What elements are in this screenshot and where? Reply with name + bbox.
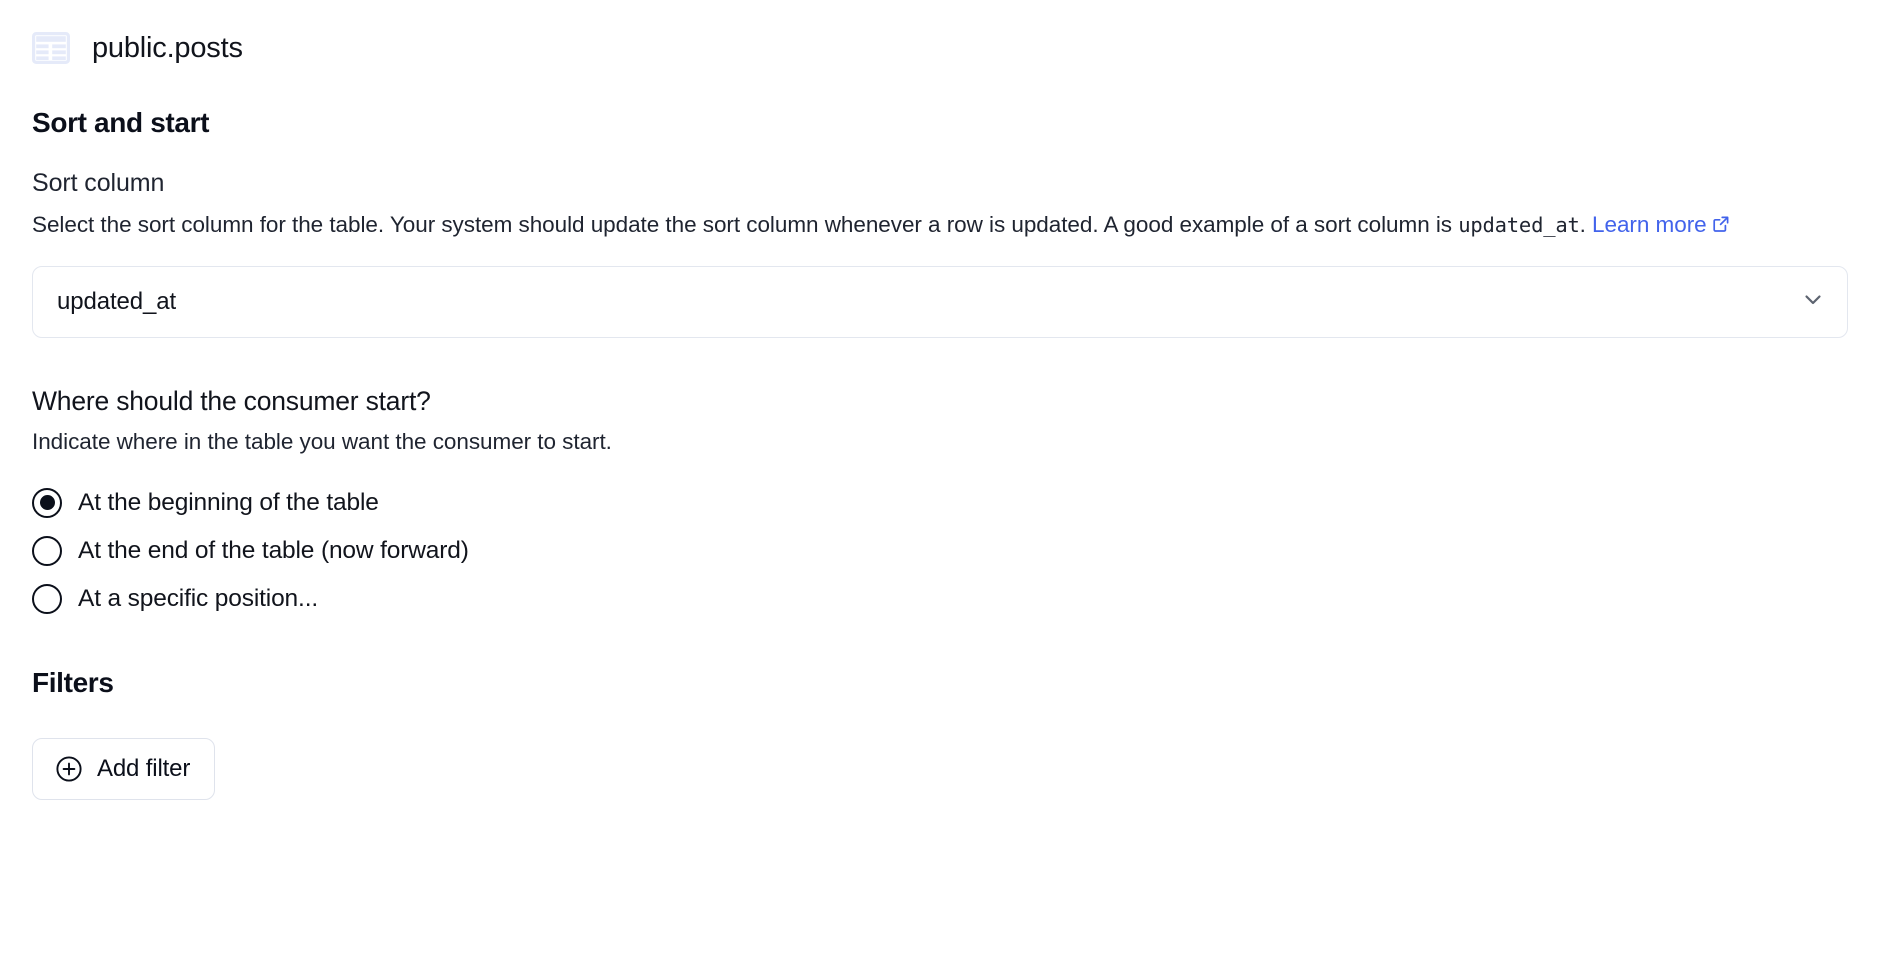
add-filter-label: Add filter xyxy=(97,755,190,783)
radio-option-specific-position[interactable]: At a specific position... xyxy=(32,575,1848,623)
sort-and-start-page: public.posts Sort and start Sort column … xyxy=(0,0,1880,980)
help-text-part-1: Select the sort column for the table. Yo… xyxy=(32,212,1458,237)
section-heading-filters: Filters xyxy=(32,667,1848,699)
sort-column-help-text: Select the sort column for the table. Yo… xyxy=(32,208,1822,243)
consumer-start-description: Indicate where in the table you want the… xyxy=(32,425,1822,459)
consumer-start-radio-group: At the beginning of the table At the end… xyxy=(32,479,1848,623)
plus-circle-icon xyxy=(55,755,83,783)
sort-column-select[interactable]: updated_at xyxy=(32,266,1848,338)
radio-label: At a specific position... xyxy=(78,585,318,613)
help-text-code: updated_at xyxy=(1458,213,1579,237)
radio-indicator[interactable] xyxy=(32,488,62,518)
radio-label: At the beginning of the table xyxy=(78,489,379,517)
help-text-part-2: . xyxy=(1580,212,1592,237)
table-icon xyxy=(32,32,70,64)
consumer-start-heading: Where should the consumer start? xyxy=(32,386,1848,417)
sort-column-label: Sort column xyxy=(32,169,1848,198)
radio-label: At the end of the table (now forward) xyxy=(78,537,469,565)
page-title: public.posts xyxy=(92,34,243,63)
add-filter-button[interactable]: Add filter xyxy=(32,738,215,800)
sort-column-select-value: updated_at xyxy=(57,288,176,316)
radio-indicator[interactable] xyxy=(32,536,62,566)
learn-more-link[interactable]: Learn more xyxy=(1592,212,1730,237)
table-header: public.posts xyxy=(32,0,1848,74)
section-heading-sort-and-start: Sort and start xyxy=(32,74,1848,139)
sort-column-select-wrapper: updated_at xyxy=(32,266,1848,338)
radio-option-end[interactable]: At the end of the table (now forward) xyxy=(32,527,1848,575)
radio-indicator[interactable] xyxy=(32,584,62,614)
learn-more-label: Learn more xyxy=(1592,212,1707,237)
radio-option-beginning[interactable]: At the beginning of the table xyxy=(32,479,1848,527)
external-link-icon xyxy=(1712,209,1730,243)
